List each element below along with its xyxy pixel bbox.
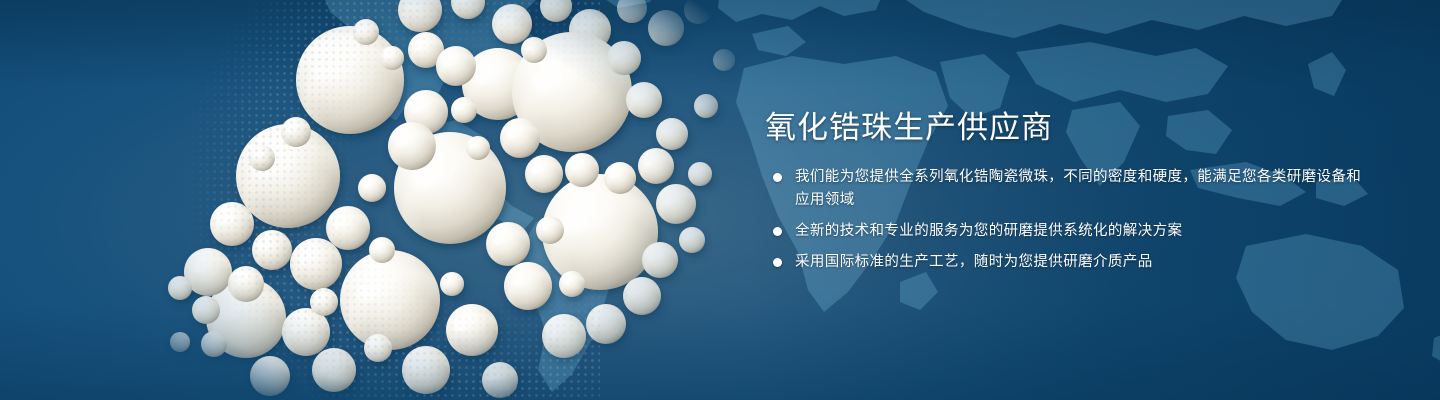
- feature-list: 我们能为您提供全系列氧化锆陶瓷微珠，不同的密度和硬度，能满足您各类研磨设备和应用…: [765, 166, 1365, 274]
- list-item: 我们能为您提供全系列氧化锆陶瓷微珠，不同的密度和硬度，能满足您各类研磨设备和应用…: [765, 166, 1365, 212]
- hero-banner: 氧化锆珠生产供应商 我们能为您提供全系列氧化锆陶瓷微珠，不同的密度和硬度，能满足…: [0, 0, 1440, 400]
- banner-copy: 氧化锆珠生产供应商 我们能为您提供全系列氧化锆陶瓷微珠，不同的密度和硬度，能满足…: [765, 108, 1365, 274]
- bullet-dot-icon: [773, 227, 782, 236]
- list-item-text: 我们能为您提供全系列氧化锆陶瓷微珠，不同的密度和硬度，能满足您各类研磨设备和应用…: [795, 169, 1361, 208]
- zirconia-beads-photo: [120, 0, 740, 400]
- list-item: 全新的技术和专业的服务为您的研磨提供系统化的解决方案: [765, 220, 1365, 243]
- list-item-text: 采用国际标准的生产工艺，随时为您提供研磨介质产品: [795, 254, 1153, 270]
- list-item-text: 全新的技术和专业的服务为您的研磨提供系统化的解决方案: [795, 223, 1182, 239]
- bullet-dot-icon: [773, 258, 782, 267]
- list-item: 采用国际标准的生产工艺，随时为您提供研磨介质产品: [765, 251, 1365, 274]
- page-title: 氧化锆珠生产供应商: [765, 108, 1365, 148]
- bullet-dot-icon: [773, 173, 782, 182]
